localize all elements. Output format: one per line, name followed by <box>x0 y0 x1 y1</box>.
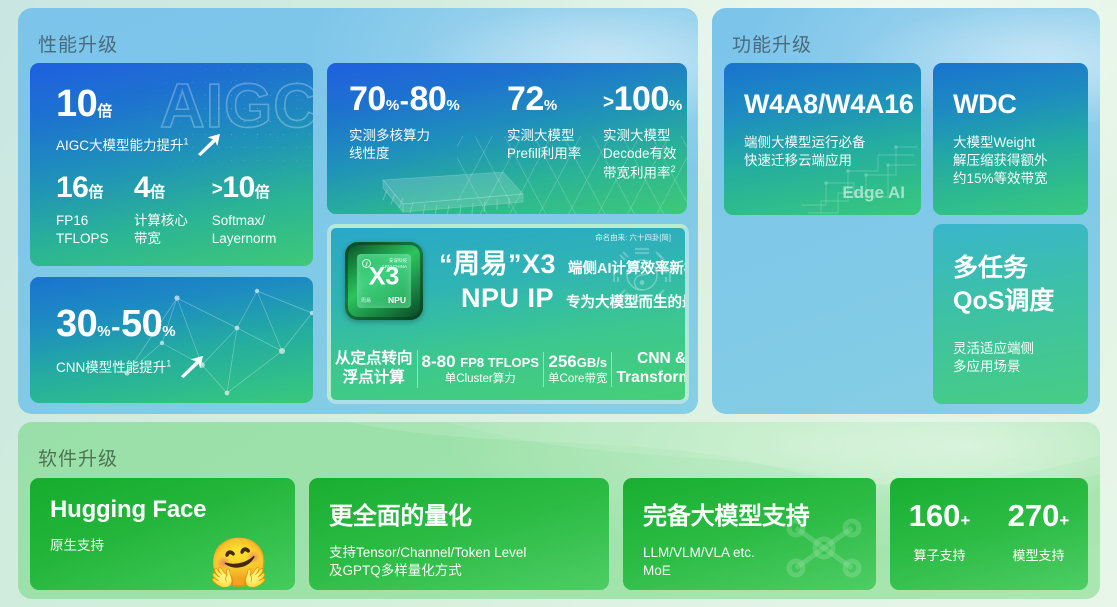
spec-line1: 从定点转向 <box>335 350 413 369</box>
hugging-face-title: Hugging Face <box>50 496 295 524</box>
support-number-1: 270+ 模型支持 <box>989 500 1088 590</box>
spec-line2: Transformer <box>616 369 689 388</box>
chip-type-text: NPU <box>388 295 406 305</box>
npu-title-line2: NPU IP <box>461 282 554 315</box>
panel-title-performance: 性能升级 <box>18 8 698 57</box>
support-number-0: 160+ 算子支持 <box>890 500 989 590</box>
spec-line1: CNN & <box>616 350 689 369</box>
quantization-description: 支持Tensor/Channel/Token Level 及GPTQ多样量化方式 <box>329 544 609 580</box>
number-label: 算子支持 <box>890 545 989 564</box>
perf-stat-value: 70%-80% <box>349 82 507 116</box>
number-value: 270+ <box>989 500 1088 531</box>
perf-stat-label: 实测多核算力 线性度 <box>349 127 507 163</box>
w4a8-description: 端侧大模型运行必备 快速迁移云端应用 <box>744 134 921 170</box>
perf-stats-row: 70%-80% 实测多核算力 线性度 72% 实测大模型 Prefill利用率 … <box>349 82 687 183</box>
substat-value: >10倍 <box>212 173 299 203</box>
substat-label: Softmax/ Layernorm <box>212 212 299 248</box>
card-llm-support: 完备大模型支持 LLM/VLM/VLA etc. MoE <box>623 478 876 590</box>
card-quantization: 更全面的量化 支持Tensor/Channel/Token Level 及GPT… <box>309 478 609 590</box>
qos-description: 灵活适应端侧 多应用场景 <box>953 340 1088 376</box>
card-hugging-face: 🤗 Hugging Face 原生支持 <box>30 478 295 590</box>
aigc-substat-1: 4倍 计算核心 带宽 <box>134 173 212 248</box>
aigc-stat-unit: 倍 <box>97 103 112 120</box>
chip-core: 安谋科技 ARM CHINA X3 周易 NPU <box>357 254 411 308</box>
qos-title-line2: QoS调度 <box>953 285 1088 318</box>
card-aigc-capability: AIGC 10倍 AIGC大模型能力提升1 16倍 FP16 TFLOPS 4倍… <box>30 63 313 266</box>
spec-line2: 单Cluster算力 <box>422 372 540 386</box>
spec-line2: 单Core带宽 <box>548 372 607 386</box>
spec-line1: 8-80 FP8 TFLOPS <box>422 352 540 373</box>
arrow-up-icon <box>195 133 222 156</box>
wdc-title: WDC <box>953 91 1088 118</box>
chip-model-text: X3 <box>357 264 411 289</box>
cnn-stat-value: 30%-50% <box>56 305 313 343</box>
aigc-substat-2: >10倍 Softmax/ Layernorm <box>212 173 299 248</box>
qos-title-line1: 多任务 <box>953 252 1088 285</box>
perf-stat-value: 72% <box>507 82 603 116</box>
card-support-numbers: 160+ 算子支持 270+ 模型支持 <box>890 478 1088 590</box>
npu-spec-0: 从定点转向 浮点计算 <box>331 350 418 388</box>
perf-stat-2: >100% 实测大模型 Decode有效 带宽利用率2 <box>603 82 682 183</box>
w4a8-title: W4A8/W4A16 <box>744 91 921 118</box>
substat-value: 4倍 <box>134 173 212 203</box>
card-multitask-qos: 多任务 QoS调度 灵活适应端侧 多应用场景 <box>933 224 1088 404</box>
aigc-substats-row: 16倍 FP16 TFLOPS 4倍 计算核心 带宽 >10倍 Softmax/… <box>56 173 299 248</box>
hugging-face-description: 原生支持 <box>50 537 295 555</box>
perf-stat-label: 实测大模型 Prefill利用率 <box>507 127 603 163</box>
wdc-description: 大模型Weight 解压缩获得额外 约15%等效带宽 <box>953 134 1088 189</box>
llm-support-description: LLM/VLM/VLA etc. MoE <box>643 544 876 580</box>
perf-stat-value: >100% <box>603 82 682 116</box>
card-measured-performance: 70%-80% 实测多核算力 线性度 72% 实测大模型 Prefill利用率 … <box>327 63 687 214</box>
quantization-title: 更全面的量化 <box>329 496 609 531</box>
card-cnn-performance: 30%-50% CNN模型性能提升1 <box>30 277 313 403</box>
substat-label: 计算核心 带宽 <box>134 212 212 248</box>
card-wdc: WDC 大模型Weight 解压缩获得额外 约15%等效带宽 <box>933 63 1088 215</box>
substat-label: FP16 TFLOPS <box>56 212 134 248</box>
number-label: 模型支持 <box>989 545 1088 564</box>
perf-stat-1: 72% 实测大模型 Prefill利用率 <box>507 82 603 183</box>
aigc-substat-0: 16倍 FP16 TFLOPS <box>56 173 134 248</box>
npu-specs-row: 从定点转向 浮点计算 8-80 FP8 TFLOPS 单Cluster算力 25… <box>331 350 685 388</box>
substat-value: 16倍 <box>56 173 134 203</box>
npu-tagline-1: 端侧AI计算效率新标杆 <box>568 257 689 278</box>
aigc-stat-value: 10倍 <box>56 85 313 123</box>
panel-title-software: 软件升级 <box>18 422 1100 471</box>
spec-line2: 浮点计算 <box>335 369 413 388</box>
x3-chip-image: 安谋科技 ARM CHINA X3 周易 NPU <box>345 242 423 320</box>
npu-spec-1: 8-80 FP8 TFLOPS 单Cluster算力 <box>418 352 545 387</box>
chip-series-text: 周易 <box>361 297 371 304</box>
npu-spec-3: CNN & Transformer <box>612 350 689 388</box>
cnn-stat-label: CNN模型性能提升1 <box>56 355 313 378</box>
spec-line1: 256GB/s <box>548 352 607 373</box>
arrow-up-icon <box>178 355 205 378</box>
perf-stat-label: 实测大模型 Decode有效 带宽利用率2 <box>603 127 682 183</box>
npu-spec-2: 256GB/s 单Core带宽 <box>544 352 612 387</box>
npu-tagline-2: 专为大模型而生的最新DSP+DSA架构 <box>566 291 689 312</box>
aigc-stat-label: AIGC大模型能力提升1 <box>56 133 313 156</box>
card-w4a8-w4a16: Edge AI W4A8/W4A16 端侧大模型运行必备 快速迁移云端应用 <box>724 63 921 215</box>
card-npu-ip: 命名由来: 六十四卦[简] 安谋科技 ARM CHINA X3 周易 NPU “… <box>327 224 689 404</box>
perf-stat-0: 70%-80% 实测多核算力 线性度 <box>349 82 507 183</box>
llm-support-title: 完备大模型支持 <box>643 496 876 531</box>
npu-title-line1: “周易”X3 <box>439 248 556 281</box>
panel-title-function: 功能升级 <box>712 8 1100 57</box>
number-value: 160+ <box>890 500 989 531</box>
